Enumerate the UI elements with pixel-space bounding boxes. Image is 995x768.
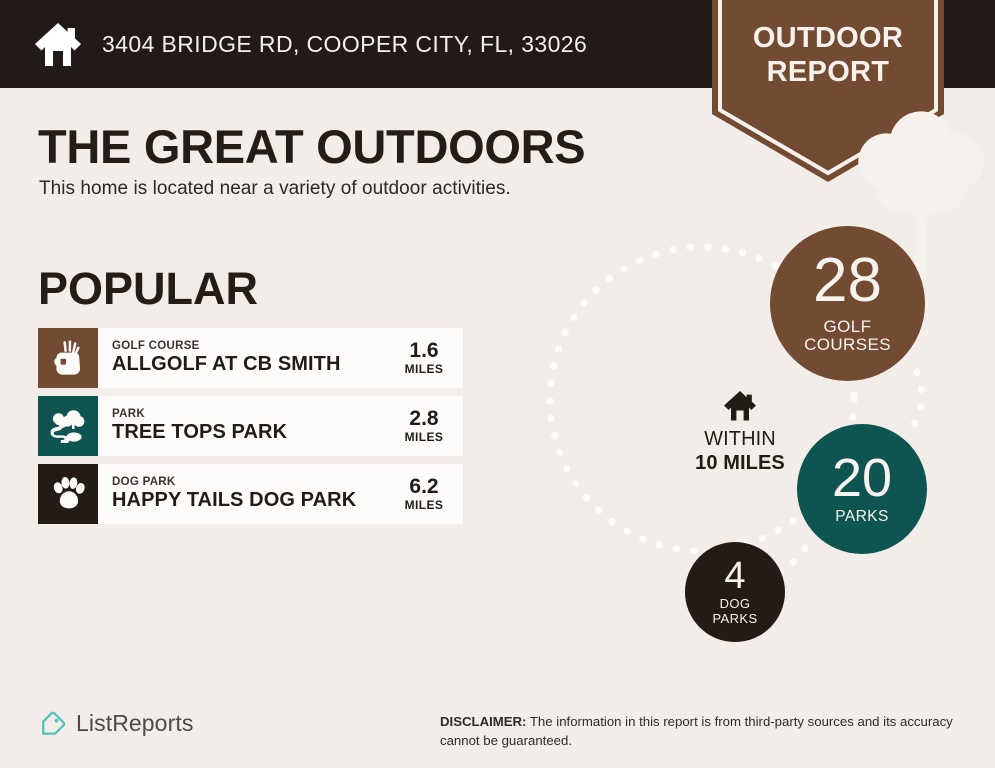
- within-line2: 10 MILES: [670, 452, 810, 476]
- count-label-line1: DOG: [712, 597, 757, 611]
- within-line1: WITHIN: [670, 428, 810, 452]
- golf-bag-icon: [38, 328, 98, 388]
- distance-unit: MILES: [405, 430, 444, 444]
- list-item-text: GOLF COURSE ALLGOLF AT CB SMITH: [98, 328, 391, 388]
- badge-title: OUTDOOR REPORT: [712, 22, 944, 89]
- count-bubble-dog-parks: 4 DOG PARKS: [685, 542, 785, 642]
- disclaimer-label: DISCLAIMER:: [440, 714, 526, 729]
- list-item[interactable]: DOG PARK HAPPY TAILS DOG PARK 6.2 MILES: [38, 464, 463, 524]
- counts-diagram: 28 GOLF COURSES 20 PARKS 4 DOG PARKS WIT…: [522, 222, 972, 672]
- outdoor-report-badge: OUTDOOR REPORT: [712, 0, 944, 182]
- list-item-text: DOG PARK HAPPY TAILS DOG PARK: [98, 464, 391, 524]
- distance-value: 6.2: [409, 476, 438, 498]
- badge-title-line2: REPORT: [712, 56, 944, 90]
- distance-unit: MILES: [405, 498, 444, 512]
- distance-value: 1.6: [409, 340, 438, 362]
- park-trees-icon: [38, 396, 98, 456]
- list-item[interactable]: GOLF COURSE ALLGOLF AT CB SMITH 1.6 MILE…: [38, 328, 463, 388]
- listreports-house-tag-icon: [40, 710, 67, 737]
- page-title: THE GREAT OUTDOORS: [38, 119, 585, 174]
- listreports-logo[interactable]: ListReports: [40, 710, 193, 737]
- list-item-category: DOG PARK: [112, 476, 391, 489]
- count-bubble-golf-courses: 28 GOLF COURSES: [770, 226, 925, 381]
- distance-unit: MILES: [405, 362, 444, 376]
- listreports-logo-text: ListReports: [76, 710, 193, 737]
- header-content: 3404 BRIDGE RD, COOPER CITY, FL, 33026: [32, 0, 587, 88]
- count-value: 4: [724, 558, 745, 594]
- badge-title-line1: OUTDOOR: [712, 22, 944, 56]
- list-item-category: GOLF COURSE: [112, 340, 391, 353]
- count-label: GOLF COURSES: [804, 318, 891, 355]
- list-item-text: PARK TREE TOPS PARK: [98, 396, 391, 456]
- list-item-name: ALLGOLF AT CB SMITH: [112, 353, 391, 376]
- count-label: PARKS: [835, 508, 888, 525]
- count-label-line1: GOLF: [804, 318, 891, 337]
- list-item-distance: 2.8 MILES: [391, 396, 463, 456]
- property-address: 3404 BRIDGE RD, COOPER CITY, FL, 33026: [102, 31, 587, 58]
- popular-list: GOLF COURSE ALLGOLF AT CB SMITH 1.6 MILE…: [38, 328, 463, 532]
- list-item-name: HAPPY TAILS DOG PARK: [112, 489, 391, 512]
- paw-print-icon: [38, 464, 98, 524]
- list-item-distance: 6.2 MILES: [391, 464, 463, 524]
- count-label-line2: COURSES: [804, 336, 891, 355]
- count-value: 20: [832, 453, 892, 504]
- within-radius-label: WITHIN 10 MILES: [670, 389, 810, 475]
- list-item-name: TREE TOPS PARK: [112, 421, 391, 444]
- list-item-category: PARK: [112, 408, 391, 421]
- page-subtitle: This home is located near a variety of o…: [39, 178, 511, 200]
- house-icon: [722, 389, 758, 422]
- count-label: DOG PARKS: [712, 597, 757, 626]
- count-value: 28: [813, 252, 882, 311]
- list-item-distance: 1.6 MILES: [391, 328, 463, 388]
- disclaimer: DISCLAIMER: The information in this repo…: [440, 713, 970, 750]
- count-label-line2: PARKS: [712, 612, 757, 626]
- list-item[interactable]: PARK TREE TOPS PARK 2.8 MILES: [38, 396, 463, 456]
- section-title-popular: POPULAR: [38, 263, 258, 315]
- outdoor-report-page: 3404 BRIDGE RD, COOPER CITY, FL, 33026 O…: [0, 0, 995, 768]
- house-icon: [32, 20, 84, 68]
- count-bubble-parks: 20 PARKS: [797, 424, 927, 554]
- distance-value: 2.8: [409, 408, 438, 430]
